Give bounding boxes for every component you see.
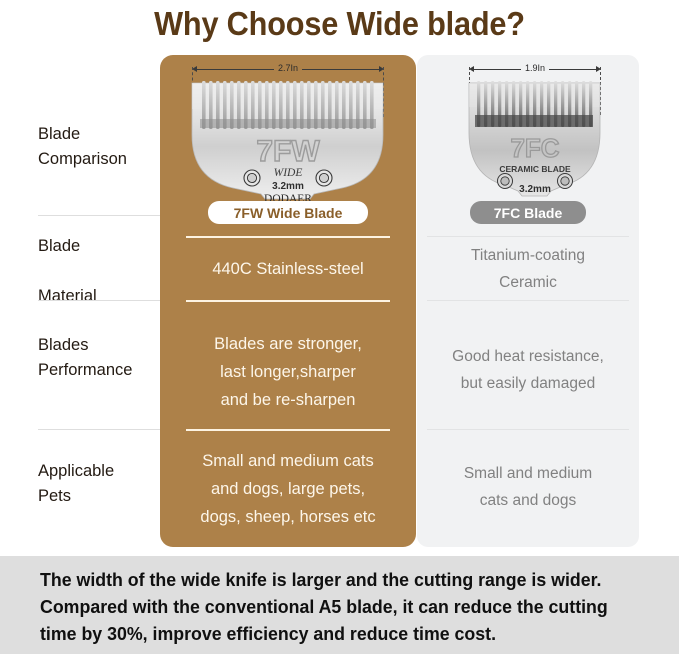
gray-divider-3 <box>427 429 629 430</box>
row-label-column: Blade Comparison Blade Material Blades P… <box>0 48 160 553</box>
ceramic-blade-column[interactable]: 1.9In <box>417 55 639 547</box>
ceramic-blade-model-engraving: 7FC <box>510 133 559 163</box>
wide-blade-badge[interactable]: 7FW Wide Blade <box>208 201 368 224</box>
gray-divider-2 <box>427 300 629 301</box>
dimension-label: 1.9In <box>521 63 549 73</box>
gray-divider-1 <box>427 236 629 237</box>
page-title: Why Choose Wide blade? <box>24 0 655 48</box>
footer-band: The width of the wide knife is larger an… <box>0 556 679 654</box>
wide-blade-pets: Small and medium cats and dogs, large pe… <box>160 447 416 531</box>
wide-blade-screw-left <box>244 170 260 186</box>
label-divider-3 <box>38 429 160 430</box>
dimension-label: 2.7In <box>274 63 302 73</box>
ceramic-blade-performance: Good heat resistance, but easily damaged <box>417 343 639 397</box>
ceramic-blade-screw-right <box>558 174 573 189</box>
ceramic-blade-badge[interactable]: 7FC Blade <box>470 201 586 224</box>
dimension-bar-right <box>549 69 596 70</box>
comparison-table: Blade Comparison Blade Material Blades P… <box>0 48 679 553</box>
ceramic-blade-material: Titanium-coating Ceramic <box>417 242 639 296</box>
wide-blade-material: 440C Stainless-steel <box>160 255 416 283</box>
label-divider-2 <box>38 300 160 301</box>
wide-blade-model-engraving: 7FW <box>256 135 320 168</box>
gold-divider-2 <box>186 300 390 302</box>
gold-divider-3 <box>186 429 390 431</box>
ceramic-blade-size: 3.2mm <box>519 184 551 195</box>
row-label-blades-performance: Blades Performance <box>38 333 132 383</box>
ceramic-blade-wordmark: CERAMIC BLADE <box>499 164 571 174</box>
label-divider-1 <box>38 215 160 216</box>
wide-blade-dimension: 2.7In <box>192 63 384 75</box>
dimension-bar-left <box>197 69 274 70</box>
ceramic-blade-svg: 7FC CERAMIC BLADE 3.2mm <box>461 75 609 211</box>
footer-text: The width of the wide knife is larger an… <box>40 566 626 647</box>
row-label-blade-comparison: Blade Comparison <box>38 122 127 172</box>
dimension-bar-left <box>474 69 521 70</box>
row-label-applicable-pets: Applicable Pets <box>38 459 114 509</box>
ceramic-blade-screw-left <box>498 174 513 189</box>
row-label-blade-material: Blade Material <box>38 234 97 309</box>
wide-blade-image: 2.7In <box>182 63 394 211</box>
wide-blade-column[interactable]: 2.7In <box>160 55 416 547</box>
wide-blade-performance: Blades are stronger, last longer,sharper… <box>160 330 416 414</box>
ceramic-blade-image: 1.9In <box>461 63 609 211</box>
wide-blade-size: 3.2mm <box>272 181 304 192</box>
dimension-bar-right <box>302 69 379 70</box>
wide-blade-screw-right <box>316 170 332 186</box>
ceramic-blade-dimension: 1.9In <box>469 63 601 75</box>
ceramic-blade-pets: Small and medium cats and dogs <box>417 460 639 514</box>
gold-divider-1 <box>186 236 390 238</box>
wide-blade-wordmark: WIDE <box>274 167 303 179</box>
wide-blade-svg: 7FW WIDE 3.2mm DODAER <box>182 75 394 211</box>
